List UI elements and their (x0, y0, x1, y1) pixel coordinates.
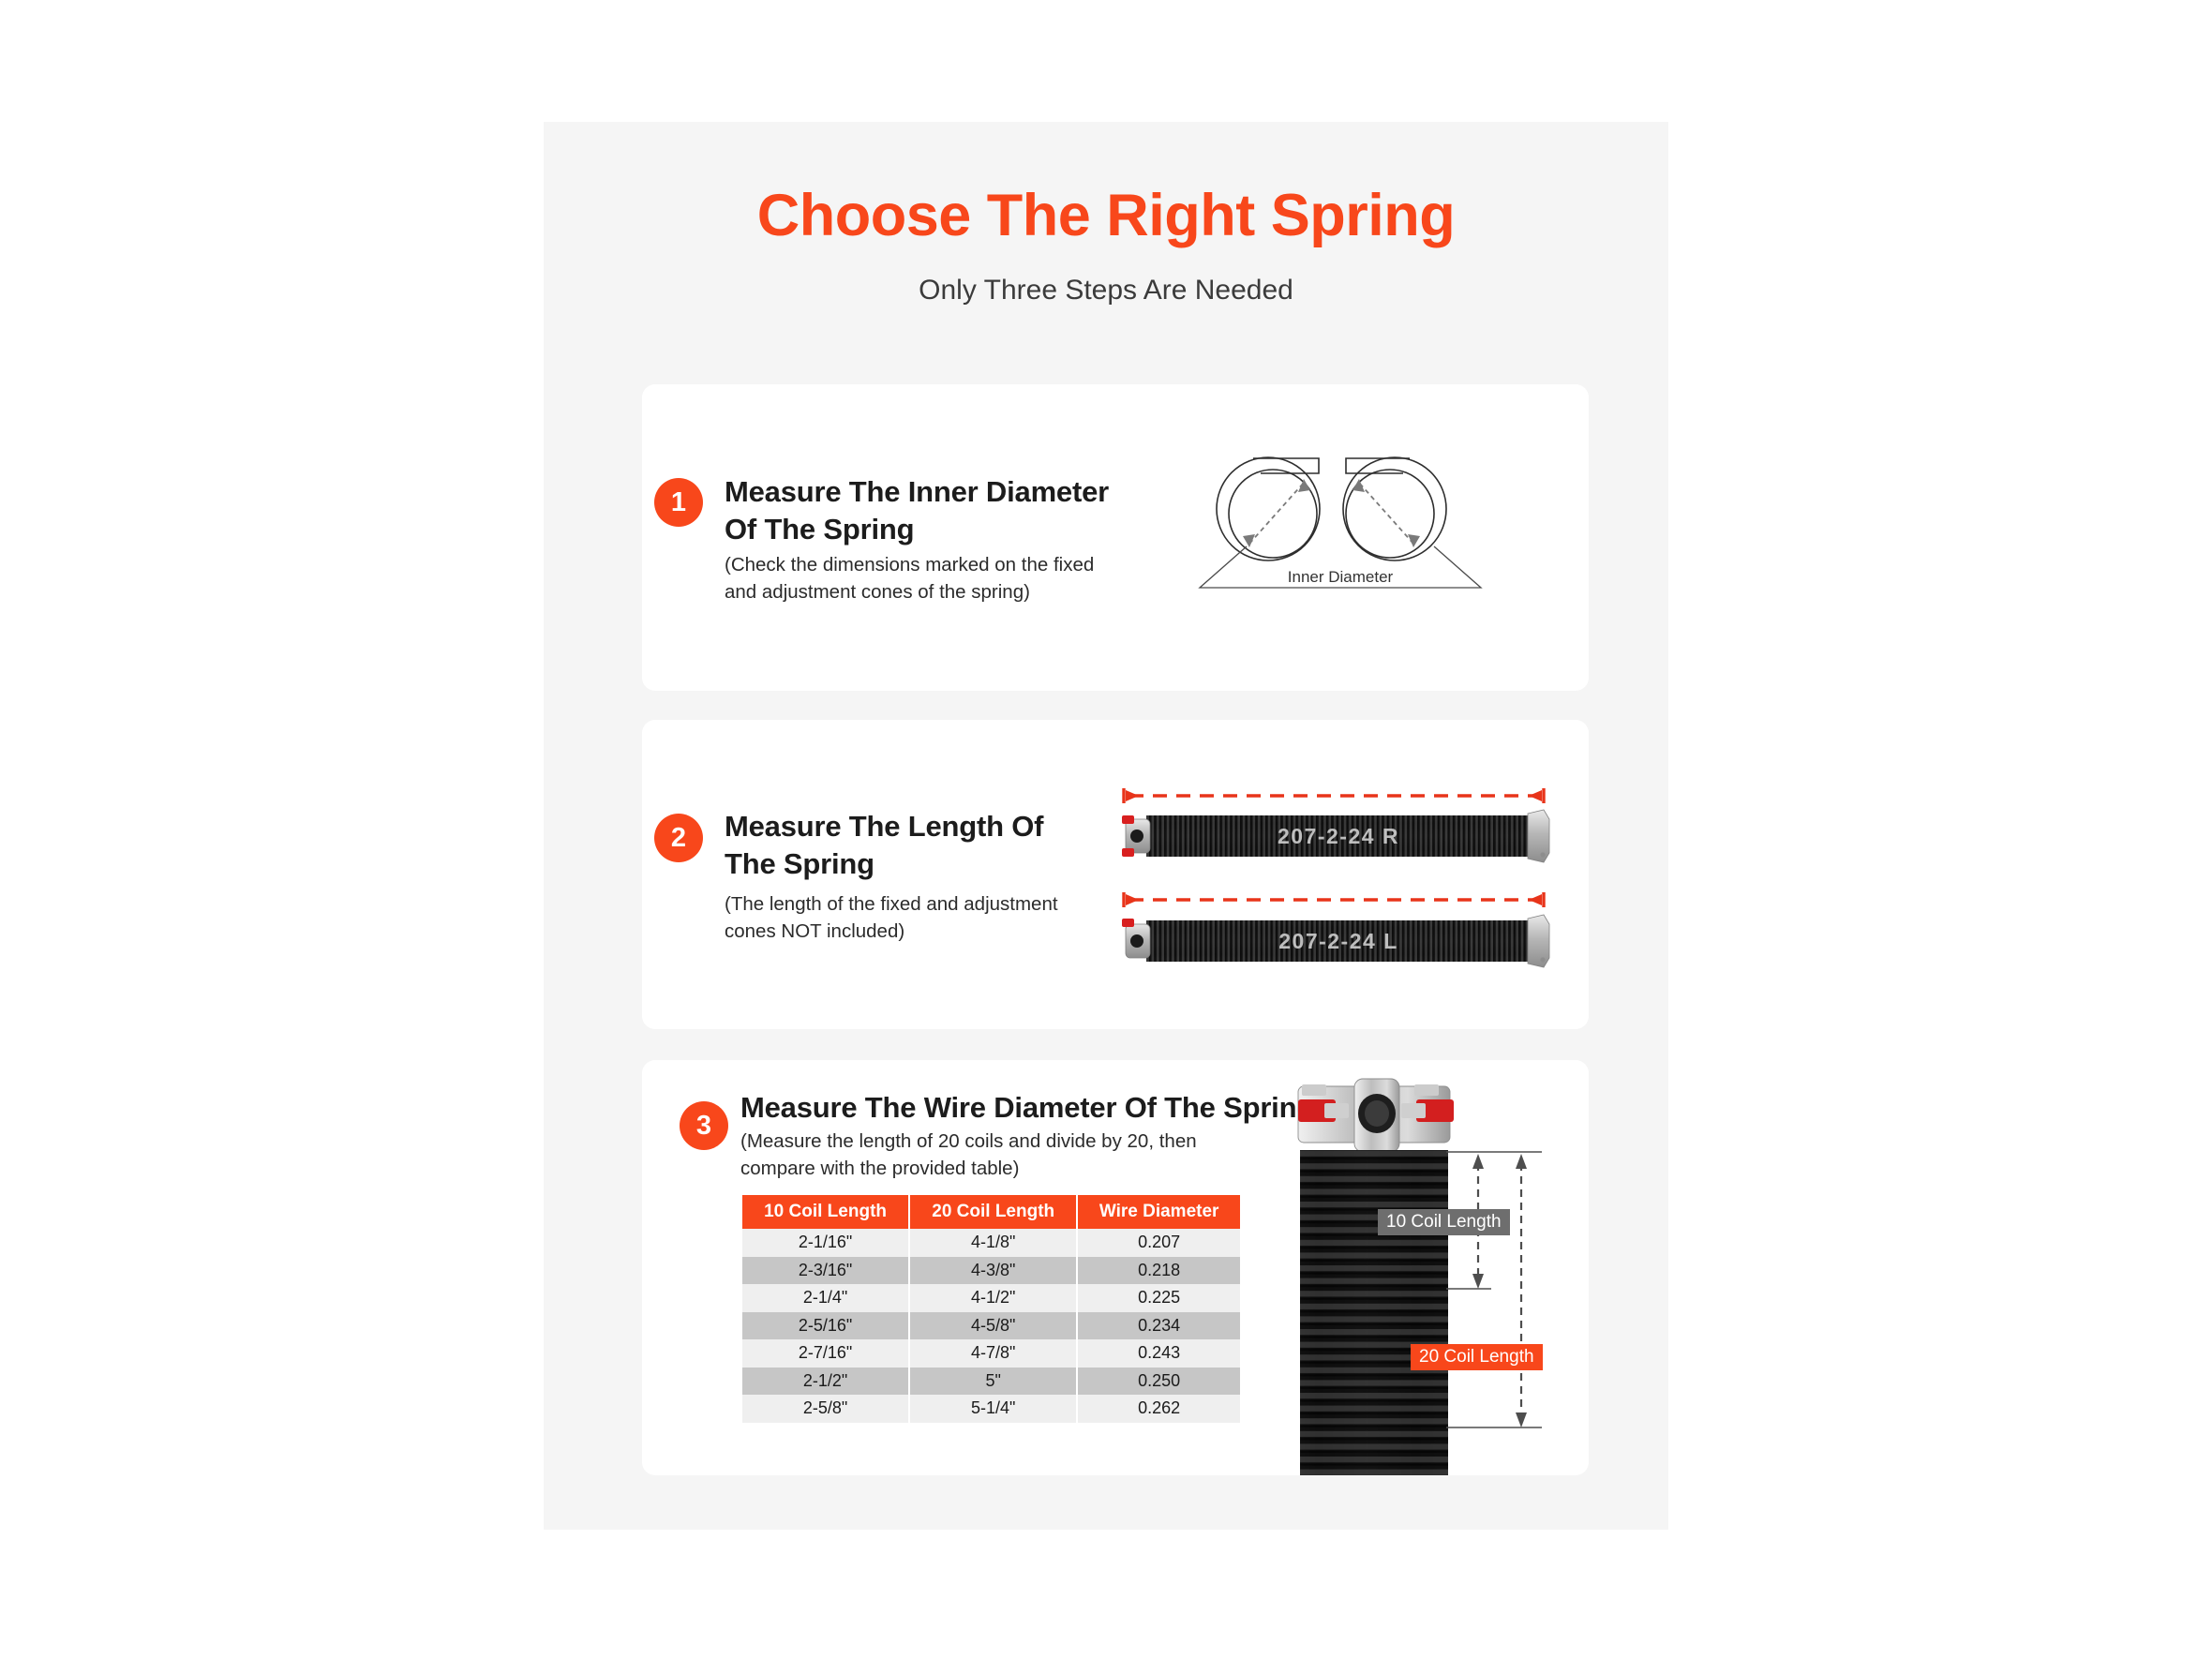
cell-wire: 0.243 (1078, 1339, 1240, 1368)
step-heading-2: Measure The Length Of The Spring (725, 808, 1099, 882)
table-row: 2-5/8"5-1/4"0.262 (742, 1395, 1240, 1423)
cell-10coil: 2-5/8" (742, 1395, 908, 1423)
spring-plate-right-1 (1528, 810, 1549, 862)
measure-arrowhead-left-2 (1126, 894, 1139, 905)
inner-diameter-diagram: Inner Diameter (1195, 445, 1486, 595)
cell-wire: 0.234 (1078, 1312, 1240, 1340)
arrowhead-left-top (1298, 479, 1310, 492)
table-row: 2-1/2"5"0.250 (742, 1368, 1240, 1396)
step-heading-3: Measure The Wire Diameter Of The Spring (740, 1089, 1322, 1127)
col-header-10-coil: 10 Coil Length (742, 1195, 908, 1229)
spring-cone-left-1 (1122, 815, 1150, 857)
col-header-20-coil: 20 Coil Length (910, 1195, 1076, 1229)
table-row: 2-1/4"4-1/2"0.225 (742, 1284, 1240, 1312)
arrowhead-left-bottom (1243, 534, 1255, 547)
step-number-2: 2 (671, 825, 686, 852)
cell-20coil: 5-1/4" (910, 1395, 1076, 1423)
cell-10coil: 2-7/16" (742, 1339, 908, 1368)
cell-wire: 0.207 (1078, 1229, 1240, 1257)
spring-marking-2: 207-2-24 L (1278, 929, 1398, 953)
step-heading-1: Measure The Inner Diameter Of The Spring (725, 473, 1118, 547)
spring-plate-right-2 (1528, 915, 1549, 967)
coil-rings (1300, 1150, 1448, 1475)
arrowhead-right-top (1353, 479, 1365, 492)
measure-arrowhead-right-1 (1529, 790, 1542, 801)
cell-20coil: 4-7/8" (910, 1339, 1076, 1368)
spring-cone-head (1298, 1079, 1454, 1152)
dim-arrowhead-20-top (1516, 1154, 1527, 1169)
step-badge-2: 2 (654, 814, 703, 862)
step-number-1: 1 (671, 489, 686, 516)
diameter-arrow-left (1249, 483, 1304, 544)
cell-20coil: 4-3/8" (910, 1257, 1076, 1285)
table-header-row: 10 Coil Length 20 Coil Length Wire Diame… (742, 1195, 1240, 1229)
wire-diameter-table: 10 Coil Length 20 Coil Length Wire Diame… (740, 1195, 1242, 1423)
cell-20coil: 4-5/8" (910, 1312, 1076, 1340)
step-note-1: (Check the dimensions marked on the fixe… (725, 551, 1099, 605)
table-row: 2-7/16"4-7/8"0.243 (742, 1339, 1240, 1368)
dim-arrowhead-10-top (1472, 1154, 1484, 1169)
cell-20coil: 4-1/8" (910, 1229, 1076, 1257)
table-row: 2-5/16"4-5/8"0.234 (742, 1312, 1240, 1340)
infographic-page: Choose The Right Spring Only Three Steps… (0, 0, 2212, 1659)
inner-diameter-caption: Inner Diameter (1288, 568, 1394, 586)
cell-10coil: 2-5/16" (742, 1312, 908, 1340)
spring-image-left: 207-2-24 L (1111, 883, 1579, 986)
dim-arrowhead-20-bottom (1516, 1412, 1527, 1427)
cell-20coil: 4-1/2" (910, 1284, 1076, 1312)
spring-image-right: 207-2-24 R (1111, 770, 1579, 874)
step-badge-1: 1 (654, 478, 703, 527)
diameter-arrow-right (1359, 483, 1413, 544)
page-subtitle: Only Three Steps Are Needed (544, 275, 1668, 306)
col-header-wire-diameter: Wire Diameter (1078, 1195, 1240, 1229)
cell-10coil: 2-1/16" (742, 1229, 908, 1257)
step-note-3: (Measure the length of 20 coils and divi… (740, 1128, 1209, 1182)
cell-20coil: 5" (910, 1368, 1076, 1396)
step-note-2: (The length of the fixed and adjustment … (725, 890, 1081, 945)
cell-wire: 0.262 (1078, 1395, 1240, 1423)
cell-10coil: 2-1/4" (742, 1284, 908, 1312)
length-measure-arrow-2 (1124, 892, 1544, 907)
spring-cone-left-2 (1122, 919, 1150, 958)
measure-arrowhead-left-1 (1126, 790, 1139, 801)
cell-wire: 0.225 (1078, 1284, 1240, 1312)
page-title: Choose The Right Spring (544, 185, 1668, 247)
label-20-coil-length: 20 Coil Length (1411, 1344, 1543, 1370)
step-badge-3: 3 (680, 1101, 728, 1150)
table-row: 2-3/16"4-3/8"0.218 (742, 1257, 1240, 1285)
table-row: 2-1/16"4-1/8"0.207 (742, 1229, 1240, 1257)
cell-10coil: 2-3/16" (742, 1257, 908, 1285)
step-number-3: 3 (696, 1113, 711, 1140)
label-10-coil-length: 10 Coil Length (1378, 1209, 1510, 1235)
dim-arrowhead-10-bottom (1472, 1274, 1484, 1289)
arrowhead-right-bottom (1408, 534, 1420, 547)
cell-wire: 0.250 (1078, 1368, 1240, 1396)
measure-arrowhead-right-2 (1529, 894, 1542, 905)
coil-measure-photo (1296, 1073, 1589, 1475)
spring-marking-1: 207-2-24 R (1278, 824, 1399, 848)
length-measure-arrow-1 (1124, 788, 1544, 803)
cell-10coil: 2-1/2" (742, 1368, 908, 1396)
cell-wire: 0.218 (1078, 1257, 1240, 1285)
